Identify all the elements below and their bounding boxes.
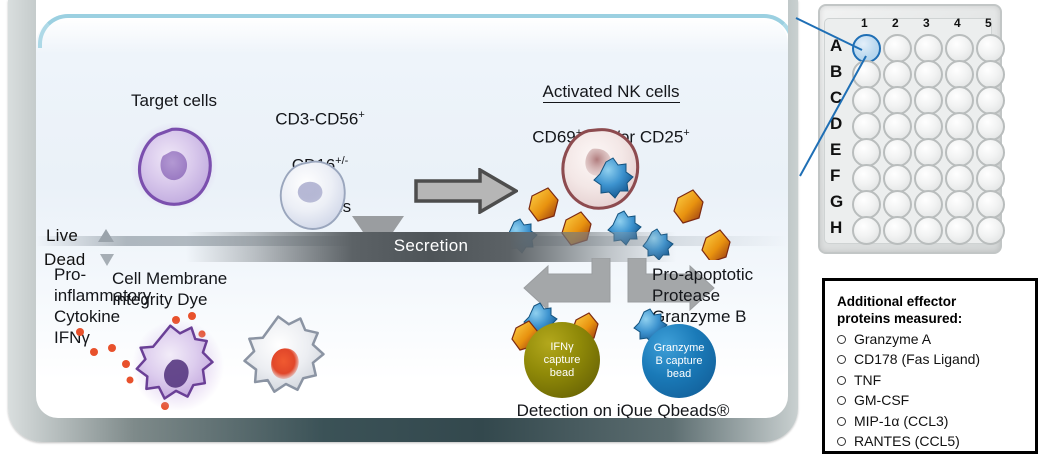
effector-item: GM-CSF [837, 391, 1025, 409]
dead-target-cell-icon [128, 318, 228, 410]
detection-caption: Detection on iQue Qbeads® [488, 400, 758, 418]
activated-marker-sup-b: + [683, 127, 689, 139]
callout-lines [796, 4, 1006, 194]
media-meniscus [38, 14, 788, 48]
activated-nk-title: Activated NK cells [543, 82, 680, 103]
bullet-circle-icon [837, 355, 846, 364]
plate-well-G4[interactable] [945, 190, 974, 219]
plate-well-H2[interactable] [883, 216, 912, 245]
secreted-molecules-lower [476, 292, 756, 352]
target-cells-label: Target cells [88, 90, 260, 111]
dead-nk-cell-icon [232, 310, 336, 406]
gzmb-bead-label: Granzyme B capture bead [654, 342, 705, 381]
plate-well-G3[interactable] [914, 190, 943, 219]
microplate[interactable]: 12345ABCDEFGH [818, 4, 998, 250]
target-cell-icon [128, 122, 220, 210]
effector-item: MIP-1α (CCL3) [837, 412, 1025, 430]
effector-item-label: CD178 (Fas Ligand) [854, 350, 980, 368]
plate-well-G1[interactable] [852, 190, 881, 219]
ifng-capture-bead: IFNγ capture bead [524, 322, 600, 398]
effector-item: TNF [837, 371, 1025, 389]
effector-item-label: TNF [854, 371, 881, 389]
ifng-bead-label: IFNγ capture bead [544, 341, 581, 380]
effector-item: Granzyme A [837, 330, 1025, 348]
assay-well-vessel: Live Dead Target cells [8, 0, 798, 442]
effector-item-label: MIP-1α (CCL3) [854, 412, 948, 430]
nk-marker-sup1: + [358, 109, 364, 121]
plate-well-H4[interactable] [945, 216, 974, 245]
granzyme-b-capture-bead: Granzyme B capture bead [642, 324, 716, 398]
additional-effector-proteins-panel: Additional effector proteins measured: G… [822, 278, 1038, 454]
nk-cell-icon [274, 158, 350, 232]
plate-well-G2[interactable] [883, 190, 912, 219]
assay-well-interior: Live Dead Target cells [36, 0, 788, 418]
effector-item: CD178 (Fas Ligand) [837, 350, 1025, 368]
effector-panel-title: Additional effector proteins measured: [837, 293, 1025, 327]
live-label: Live [46, 226, 78, 246]
plate-well-G5[interactable] [976, 190, 1005, 219]
plate-well-H1[interactable] [852, 216, 881, 245]
bullet-circle-icon [837, 335, 846, 344]
live-up-arrow-icon [98, 229, 114, 242]
bullet-circle-icon [837, 396, 846, 405]
nk-marker-line1: CD3-CD56 [275, 110, 358, 129]
plate-well-H3[interactable] [914, 216, 943, 245]
effector-item-label: Granzyme A [854, 330, 931, 348]
effector-item-label: GM-CSF [854, 391, 909, 409]
bullet-circle-icon [837, 376, 846, 385]
plate-row-label: G [830, 192, 843, 212]
effector-protein-list: Granzyme ACD178 (Fas Ligand)TNFGM-CSFMIP… [837, 330, 1025, 451]
secretion-label: Secretion [186, 236, 676, 256]
plate-row-label: H [830, 218, 842, 238]
plate-well-H5[interactable] [976, 216, 1005, 245]
effector-item: RANTES (CCL5) [837, 432, 1025, 450]
effector-item-label: RANTES (CCL5) [854, 432, 960, 450]
bullet-circle-icon [837, 417, 846, 426]
bullet-circle-icon [837, 437, 846, 446]
